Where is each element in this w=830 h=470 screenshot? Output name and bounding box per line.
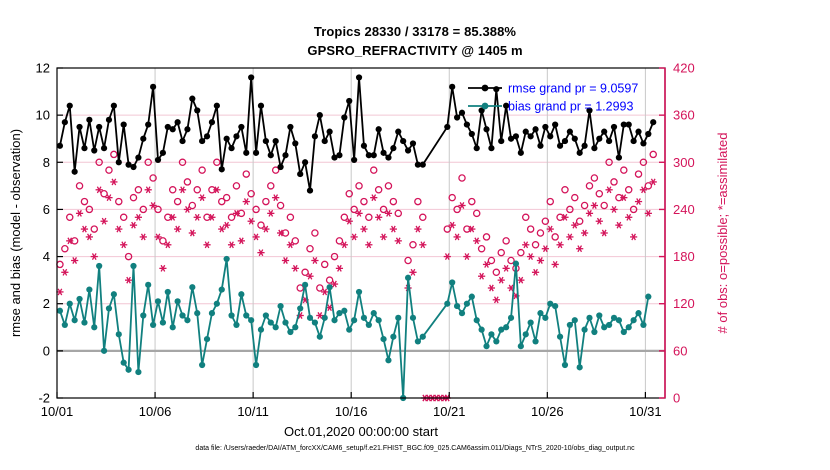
rmse-point (199, 138, 205, 144)
rmse-point (567, 129, 573, 135)
bias-point (449, 279, 455, 285)
obs-possible-marker (130, 195, 136, 201)
y-axis-tick-label: 6 (43, 202, 50, 217)
obs-possible-marker (483, 234, 489, 240)
obs-possible-marker (336, 238, 342, 244)
rmse-point (287, 124, 293, 130)
bias-point (479, 327, 485, 333)
rmse-point (101, 145, 107, 151)
bias-point (444, 301, 450, 307)
plot-frame (57, 68, 665, 398)
bias-point (194, 310, 200, 316)
rmse-point (528, 133, 534, 139)
bias-point (76, 296, 82, 302)
rmse-point (263, 138, 269, 144)
obs-assimilated-marker (444, 253, 451, 259)
obs-possible-marker (650, 151, 656, 157)
bias-point (626, 324, 632, 330)
rmse-point (513, 133, 519, 139)
obs-possible-marker (302, 269, 308, 275)
obs-assimilated-marker (576, 246, 583, 252)
bias-point (282, 319, 288, 325)
y-axis-right-tick-label: 60 (673, 343, 687, 358)
bias-point (106, 305, 112, 311)
rmse-point (405, 147, 411, 153)
bias-point (586, 315, 592, 321)
obs-possible-marker (449, 195, 455, 201)
x-axis-tick-label: 10/26 (531, 404, 564, 419)
rmse-point (233, 133, 239, 139)
rmse-point (371, 152, 377, 158)
obs-assimilated-marker (203, 242, 210, 248)
bias-point (488, 331, 494, 337)
obs-possible-marker (503, 238, 509, 244)
bias-point (523, 331, 529, 337)
rmse-point (410, 140, 416, 146)
obs-assimilated-marker (473, 238, 480, 244)
rmse-point (400, 138, 406, 144)
rmse-point (184, 126, 190, 132)
bias-point (125, 367, 131, 373)
bias-point (199, 362, 205, 368)
bias-point (537, 310, 543, 316)
obs-assimilated-marker (360, 226, 367, 232)
bias-point (258, 327, 264, 333)
obs-possible-marker (596, 191, 602, 197)
rmse-point (238, 124, 244, 130)
obs-possible-marker (459, 175, 465, 181)
rmse-point (346, 98, 352, 104)
x-axis-tick-label: 10/21 (433, 404, 466, 419)
rmse-point (626, 121, 632, 127)
bias-point (96, 263, 102, 269)
rmse-point (341, 114, 347, 120)
obs-assimilated-marker (380, 234, 387, 240)
y-axis-tick-label: 12 (36, 61, 50, 76)
obs-assimilated-marker (635, 198, 642, 204)
obs-assimilated-marker (610, 206, 617, 212)
obs-assimilated-marker (409, 269, 416, 275)
rmse-point (395, 129, 401, 135)
y-axis-right-tick-label: 120 (673, 296, 695, 311)
rmse-point (577, 150, 583, 156)
obs-assimilated-marker (591, 202, 598, 208)
y-axis-right-title: # of obs: o=possible; *=assimilated (715, 133, 730, 334)
rmse-point (228, 145, 234, 151)
bias-point (297, 305, 303, 311)
obs-assimilated-marker (199, 195, 206, 201)
rmse-point (650, 119, 656, 125)
x-axis-tick-label: 10/06 (139, 404, 172, 419)
obs-possible-marker (356, 183, 362, 189)
obs-assimilated-marker (282, 257, 289, 263)
rmse-point (356, 74, 362, 80)
obs-assimilated-marker (375, 214, 382, 220)
obs-possible-marker (518, 250, 524, 256)
bias-point (121, 360, 127, 366)
obs-assimilated-marker (228, 242, 235, 248)
rmse-point (488, 145, 494, 151)
obs-possible-marker (498, 250, 504, 256)
obs-assimilated-marker (596, 218, 603, 224)
rmse-point (268, 152, 274, 158)
obs-possible-marker (111, 151, 117, 157)
obs-assimilated-marker (71, 257, 78, 263)
obs-possible-marker (287, 214, 293, 220)
obs-assimilated-marker (527, 253, 534, 259)
obs-possible-marker (488, 257, 494, 263)
rmse-point (420, 162, 426, 168)
bias-point (140, 312, 146, 318)
obs-assimilated-marker (243, 198, 250, 204)
obs-possible-marker (552, 234, 558, 240)
obs-assimilated-marker (257, 250, 264, 256)
rmse-point (106, 117, 112, 123)
rmse-point (91, 147, 97, 153)
bias-point (464, 301, 470, 307)
bias-point (302, 282, 308, 288)
obs-possible-marker (523, 214, 529, 220)
rmse-point (72, 169, 78, 175)
obs-assimilated-marker (488, 285, 495, 291)
rmse-point (253, 150, 259, 156)
obs-possible-marker (189, 202, 195, 208)
rmse-point (130, 164, 136, 170)
obs-assimilated-marker (532, 269, 539, 275)
obs-possible-marker (91, 226, 97, 232)
legend-marker (482, 103, 489, 110)
y-axis-right-tick-label: 0 (673, 391, 680, 406)
rmse-point (336, 152, 342, 158)
bias-point (86, 286, 92, 292)
bias-point (376, 317, 382, 323)
obs-assimilated-marker (292, 265, 299, 271)
obs-assimilated-marker (390, 226, 397, 232)
rmse-point (537, 143, 543, 149)
bias-point (273, 324, 279, 330)
rmse-point (76, 124, 82, 130)
obs-assimilated-marker (503, 265, 510, 271)
bias-point (581, 327, 587, 333)
obs-assimilated-marker (601, 230, 608, 236)
obs-assimilated-marker (140, 234, 147, 240)
rmse-point (81, 145, 87, 151)
obs-assimilated-marker (125, 277, 132, 283)
bias-point (277, 303, 283, 309)
bias-point (532, 338, 538, 344)
obs-assimilated-marker (463, 253, 470, 259)
obs-possible-marker (170, 187, 176, 193)
rmse-point (302, 159, 308, 165)
rmse-point (297, 171, 303, 177)
bias-point (562, 362, 568, 368)
rmse-point (155, 157, 161, 163)
obs-possible-marker (62, 246, 68, 252)
bias-point (150, 322, 156, 328)
obs-assimilated-marker (194, 214, 201, 220)
bias-point (224, 256, 230, 262)
obs-assimilated-marker (556, 242, 563, 248)
obs-assimilated-marker (370, 195, 377, 201)
obs-possible-marker (121, 214, 127, 220)
obs-assimilated-marker (606, 187, 613, 193)
obs-possible-marker (577, 218, 583, 224)
rmse-point (464, 121, 470, 127)
rmse-point (596, 136, 602, 142)
rmse-point (170, 126, 176, 132)
rmse-point (635, 129, 641, 135)
rmse-point (116, 159, 122, 165)
bias-point (577, 364, 583, 370)
obs-assimilated-marker (135, 214, 142, 220)
bias-point (91, 324, 97, 330)
rmse-point (307, 187, 313, 193)
bias-point (155, 298, 161, 304)
obs-possible-marker (327, 277, 333, 283)
legend-marker (482, 85, 489, 92)
obs-possible-marker (611, 179, 617, 185)
rmse-point (175, 119, 181, 125)
y-axis-tick-label: 0 (43, 343, 50, 358)
obs-assimilated-marker (174, 226, 181, 232)
rmse-point (121, 121, 127, 127)
obs-possible-marker (581, 202, 587, 208)
bias-point (322, 315, 328, 321)
obs-possible-marker (322, 261, 328, 267)
bias-point (572, 317, 578, 323)
bias-point (165, 289, 171, 295)
obs-possible-marker (479, 246, 485, 252)
y-axis-right-tick-label: 180 (673, 249, 695, 264)
rmse-point (498, 138, 504, 144)
obs-assimilated-marker (630, 234, 637, 240)
obs-possible-marker (175, 198, 181, 204)
rmse-point (243, 150, 249, 156)
data-file-caption: data file: /Users/raeder/DAI/ATM_forcXX/… (0, 445, 830, 452)
rmse-point (312, 133, 318, 139)
bias-point (346, 327, 352, 333)
obs-assimilated-marker (493, 297, 500, 303)
bias-point (395, 315, 401, 321)
rmse-point (67, 103, 73, 109)
rmse-point (572, 136, 578, 142)
bias-point (72, 317, 78, 323)
bias-point (380, 336, 386, 342)
obs-possible-marker (312, 230, 318, 236)
obs-possible-marker (228, 214, 234, 220)
bias-point (503, 324, 509, 330)
x-axis-tick-label: 10/31 (629, 404, 662, 419)
rmse-point (282, 152, 288, 158)
legend-label: rmse grand pr = 9.0597 (508, 82, 638, 96)
bias-point (557, 334, 563, 340)
obs-possible-marker (268, 183, 274, 189)
chart-screenshot: Tropics 28330 / 33178 = 85.388% GPSRO_RE… (0, 0, 830, 470)
bias-point (528, 319, 534, 325)
bias-point (405, 275, 411, 281)
bias-point (420, 334, 426, 340)
bias-point (228, 312, 234, 318)
rmse-point (523, 129, 529, 135)
obs-possible-marker (390, 198, 396, 204)
bias-point (518, 343, 524, 349)
bias-point (327, 284, 333, 290)
obs-assimilated-marker (179, 187, 186, 193)
bias-point (253, 362, 259, 368)
bias-point (621, 329, 627, 335)
rmse-point (557, 143, 563, 149)
plot-container: -202468101206012018024030036042010/0110/… (0, 0, 830, 470)
obs-possible-marker (547, 198, 553, 204)
obs-possible-marker (420, 214, 426, 220)
obs-assimilated-marker (130, 222, 137, 228)
rmse-point (194, 107, 200, 113)
y-axis-right-tick-label: 240 (673, 202, 695, 217)
rmse-point (581, 143, 587, 149)
bias-point (248, 317, 254, 323)
rmse-point (616, 154, 622, 160)
obs-possible-marker (621, 167, 627, 173)
obs-possible-marker (194, 187, 200, 193)
bias-point (175, 298, 181, 304)
obs-assimilated-marker (248, 218, 255, 224)
obs-possible-marker (135, 187, 141, 193)
bias-point (356, 289, 362, 295)
obs-possible-marker (76, 183, 82, 189)
rmse-point (248, 74, 254, 80)
rmse-point (562, 138, 568, 144)
rmse-point (631, 138, 637, 144)
rmse-point (322, 138, 328, 144)
obs-assimilated-marker (223, 222, 230, 228)
obs-assimilated-marker (615, 222, 622, 228)
rmse-point (160, 150, 166, 156)
legend-label: bias grand pr = 1.2993 (508, 100, 633, 114)
rmse-point (518, 150, 524, 156)
obs-assimilated-marker (91, 253, 98, 259)
obs-possible-marker (537, 230, 543, 236)
rmse-point (111, 103, 117, 109)
obs-possible-marker (635, 171, 641, 177)
bias-point (233, 322, 239, 328)
obs-assimilated-marker (478, 273, 485, 279)
bias-point (292, 324, 298, 330)
obs-possible-marker (410, 242, 416, 248)
y-axis-tick-label: 8 (43, 155, 50, 170)
rmse-point (189, 96, 195, 102)
obs-possible-marker (371, 167, 377, 173)
obs-possible-marker (57, 261, 63, 267)
obs-assimilated-marker (419, 242, 426, 248)
obs-possible-marker (184, 179, 190, 185)
obs-possible-marker (243, 171, 249, 177)
obs-possible-marker (317, 285, 323, 291)
bias-point (317, 334, 323, 340)
bias-point (351, 317, 357, 323)
rmse-point (219, 166, 225, 172)
obs-possible-marker (626, 187, 632, 193)
bias-point (209, 310, 215, 316)
rmse-point (224, 136, 230, 142)
y-axis-right-tick-label: 420 (673, 61, 695, 76)
chart-canvas: -202468101206012018024030036042010/0110/… (0, 0, 830, 470)
obs-possible-marker (572, 195, 578, 201)
obs-assimilated-marker (625, 214, 632, 220)
bias-point (567, 322, 573, 328)
obs-assimilated-marker (454, 234, 461, 240)
bias-point (469, 294, 475, 300)
obs-possible-marker (258, 222, 264, 228)
bias-point (243, 312, 249, 318)
bias-point (415, 338, 421, 344)
obs-possible-marker (292, 238, 298, 244)
bias-point (67, 301, 73, 307)
rmse-point (351, 157, 357, 163)
rmse-point (145, 121, 151, 127)
rmse-point (444, 124, 450, 130)
obs-assimilated-marker (586, 210, 593, 216)
rmse-point (204, 133, 210, 139)
rmse-point (390, 145, 396, 151)
obs-possible-marker (233, 183, 239, 189)
rmse-point (292, 140, 298, 146)
bias-point (307, 315, 313, 321)
rmse-point (449, 84, 455, 90)
obs-assimilated-marker (272, 195, 279, 201)
obs-possible-marker (415, 198, 421, 204)
rmse-point (611, 124, 617, 130)
rmse-point (493, 86, 499, 92)
obs-assimilated-marker (115, 226, 122, 232)
bias-point (542, 315, 548, 321)
obs-possible-marker (277, 202, 283, 208)
obs-possible-marker (116, 198, 122, 204)
bias-point (606, 322, 612, 328)
obs-assimilated-marker (120, 242, 127, 248)
bias-point (145, 282, 151, 288)
obs-assimilated-marker (581, 230, 588, 236)
x-axis-tick-label: 10/16 (335, 404, 368, 419)
rmse-point (606, 138, 612, 144)
obs-possible-marker (199, 167, 205, 173)
rmse-point (591, 145, 597, 151)
bias-point (62, 322, 68, 328)
bias-point (263, 312, 269, 318)
obs-assimilated-marker (498, 277, 505, 283)
rmse-point (474, 145, 480, 151)
y-axis-tick-label: 10 (36, 108, 50, 123)
bias-point (204, 336, 210, 342)
rmse-point (150, 84, 156, 90)
rmse-point (483, 126, 489, 132)
obs-assimilated-marker (365, 242, 372, 248)
obs-possible-marker (528, 226, 534, 232)
rmse-point (454, 114, 460, 120)
rmse-point (273, 138, 279, 144)
obs-assimilated-marker (145, 187, 152, 193)
obs-assimilated-marker (311, 257, 318, 263)
obs-assimilated-marker (542, 246, 549, 252)
rmse-point (209, 119, 215, 125)
obs-possible-marker (307, 246, 313, 252)
x-axis-tick-label: 10/11 (237, 404, 269, 419)
obs-assimilated-marker (566, 234, 573, 240)
obs-possible-marker (405, 257, 411, 263)
bias-point (645, 294, 651, 300)
obs-possible-marker (160, 238, 166, 244)
obs-possible-marker (376, 187, 382, 193)
bias-point (410, 315, 416, 321)
